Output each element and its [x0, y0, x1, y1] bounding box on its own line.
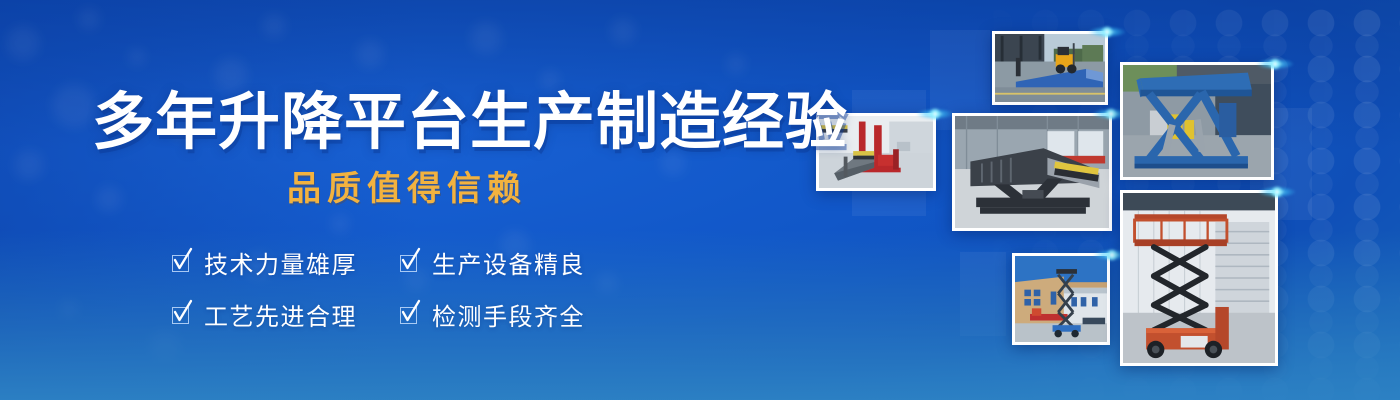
feature-item: 检测手段齐全 — [400, 297, 628, 332]
feature-label: 生产设备精良 — [432, 245, 585, 280]
checkbox-checked-icon — [172, 253, 191, 272]
photo-blue-scissor-table — [1120, 62, 1274, 180]
promo-banner: 多年升降平台生产制造经验 品质值得信赖 技术力量雄厚 — [0, 0, 1400, 400]
photo-mobile-scissor-lift-site — [1012, 253, 1110, 345]
feature-item: 工艺先进合理 — [172, 297, 400, 332]
feature-label: 检测手段齐全 — [432, 297, 585, 332]
feature-list: 技术力量雄厚 生产设备精良 工艺先进合理 — [172, 236, 628, 340]
feature-item: 生产设备精良 — [400, 245, 628, 280]
photo-forklift-yard-ramp — [992, 31, 1108, 105]
feature-label: 工艺先进合理 — [204, 297, 357, 332]
checkbox-checked-icon — [172, 305, 191, 324]
photo-workshop-dock-leveler — [952, 113, 1112, 231]
banner-subtitle: 品质值得信赖 — [287, 172, 527, 206]
feature-item: 技术力量雄厚 — [172, 245, 400, 280]
feature-label: 技术力量雄厚 — [204, 245, 357, 280]
photo-orange-scissor-lift — [1120, 190, 1278, 366]
checkbox-checked-icon — [400, 253, 419, 272]
checkbox-checked-icon — [400, 305, 419, 324]
banner-text-block: 多年升降平台生产制造经验 品质值得信赖 技术力量雄厚 — [0, 0, 800, 400]
page-title: 多年升降平台生产制造经验 — [92, 92, 848, 154]
